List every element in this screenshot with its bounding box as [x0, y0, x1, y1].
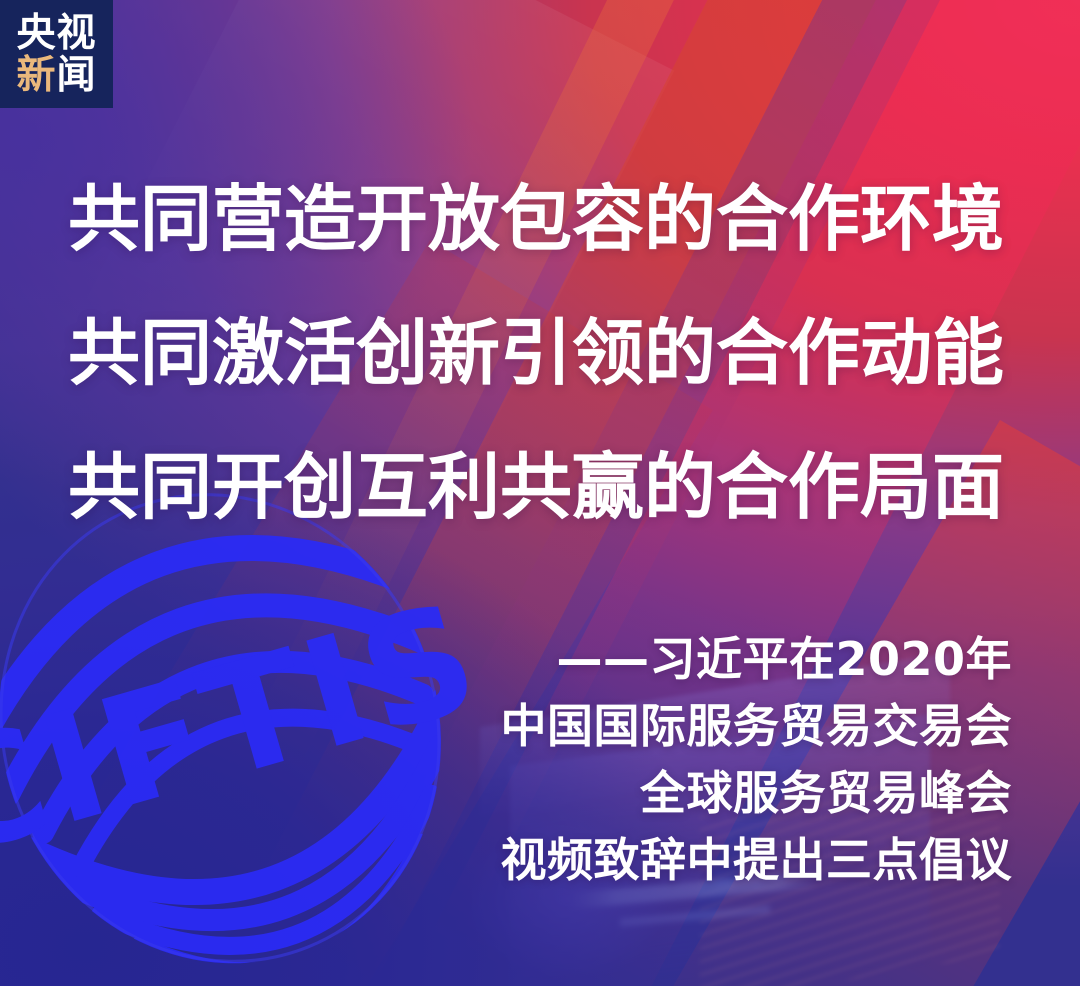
headline-line-1: 共同营造开放包容的合作环境: [68, 152, 1020, 286]
cctv-logo-xin: 新: [16, 56, 56, 95]
cctv-news-logo[interactable]: 央视 新闻: [0, 0, 113, 108]
attribution-block: ——习近平在2020年 中国国际服务贸易交易会 全球服务贸易峰会 视频致辞中提出…: [412, 626, 1012, 894]
cctv-logo-yangshi: 央视: [16, 14, 96, 53]
headline-block: 共同营造开放包容的合作环境 共同激活创新引领的合作动能 共同开创互利共赢的合作局…: [68, 152, 1020, 554]
headline-line-3: 共同开创互利共赢的合作局面: [68, 420, 1020, 554]
poster-canvas: CIFTIS 央视 新闻 共同营造开放包容的合作环境 共同激活创新引领的合作动能…: [0, 0, 1080, 986]
attribution-line-2: 中国国际服务贸易交易会: [412, 693, 1012, 760]
attribution-line-3: 全球服务贸易峰会: [412, 760, 1012, 827]
cctv-logo-line-1: 央视: [16, 14, 96, 53]
cctv-logo-line-2: 新闻: [16, 56, 96, 95]
attribution-line-4: 视频致辞中提出三点倡议: [412, 827, 1012, 894]
headline-line-2: 共同激活创新引领的合作动能: [68, 286, 1020, 420]
cctv-logo-wen: 闻: [57, 56, 97, 95]
attribution-line-1: ——习近平在2020年: [412, 626, 1012, 693]
